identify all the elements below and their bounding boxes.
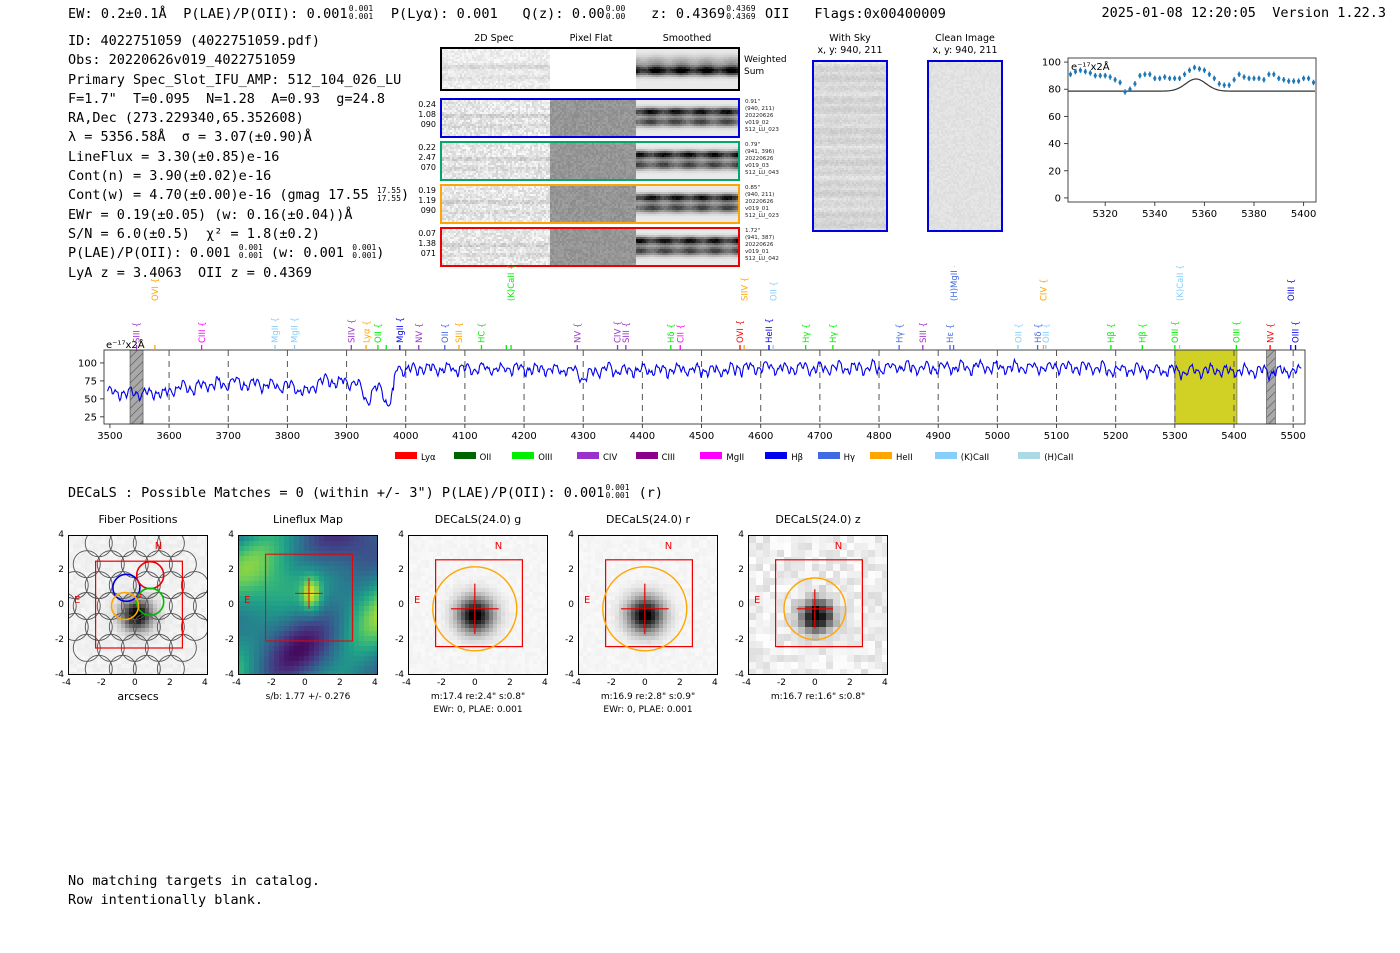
spec2d-weighted-2dspec: [442, 49, 550, 89]
legend-swatch: [512, 452, 534, 459]
header-plae-value: 0.001: [307, 6, 348, 22]
compass-north-label: N: [835, 541, 842, 552]
cutout-image-gray[interactable]: [578, 535, 718, 675]
spec2d-row-meta: 0.79": [745, 142, 791, 149]
legend-item-oiii: OIII: [512, 452, 552, 463]
spec2d-pixelflat: [550, 229, 636, 265]
header-datetime-version: 2025-01-08 12:20:05 Version 1.22.3: [1102, 5, 1387, 21]
legend-label: Hγ: [844, 453, 855, 463]
spec2d-pixelflat: [550, 100, 636, 136]
header-plae-range: 0.0010.001: [349, 5, 374, 21]
spec2d-smoothed: [636, 100, 740, 136]
cutout-ytick: -2: [560, 635, 574, 645]
decals-plae-range: 0.0010.001: [605, 484, 629, 500]
legend-label: CIII: [662, 453, 675, 463]
small-cutout-coords: x, y: 940, 211: [800, 45, 900, 57]
cutout-image-gray[interactable]: [408, 535, 548, 675]
spec2d-pixelflat: [550, 186, 636, 222]
cutout-ytick: -4: [50, 670, 64, 680]
cutout-caption-2: EWr: 0, PLAE: 0.001: [548, 704, 748, 716]
small-cutout-title: Clean Image: [915, 33, 1015, 45]
sky-clean-group: With Skyx, y: 940, 211Clean Imagex, y: 9…: [800, 33, 1020, 233]
cutout-ytick: 2: [220, 565, 234, 575]
spec2d-weighted-smoothed: [636, 49, 740, 89]
spec2d-smoothed: [636, 143, 740, 179]
cutout-ytick: 2: [390, 565, 404, 575]
info-radec: RA,Dec (273.229340,65.352608): [68, 109, 409, 128]
spec2d-exposure-row: [440, 184, 740, 224]
cutout-xtick: 4: [712, 678, 718, 688]
header-z-range: 0.43690.4369: [726, 5, 756, 21]
small-cutout-image: [927, 60, 1003, 232]
spec2d-weighted-sum-row: [440, 47, 740, 91]
compass-north-label: N: [155, 541, 162, 552]
info-lineflux: LineFlux = 3.30(±0.85)e-16: [68, 148, 409, 167]
cutout-ytick: 4: [390, 530, 404, 540]
legend-label: OII: [480, 453, 492, 463]
spec2d-row-meta: 20220626: [745, 199, 791, 206]
spec2d-exposure-row: [440, 141, 740, 181]
cutout-ytick: -2: [50, 635, 64, 645]
compass-east-label: E: [584, 595, 590, 606]
cutout-xtick: 0: [132, 678, 138, 688]
cutout-xtick: 2: [337, 678, 343, 688]
spec2d-row-meta: (940, 211): [745, 106, 791, 113]
weighted-sum-label-1: Weighted: [744, 55, 787, 65]
full-spectrum-plot: 2550751003500360037003800390040004100420…: [60, 266, 1345, 446]
spec2d-panel-group: 2D SpecPixel FlatSmoothedWeightedSum0.24…: [440, 33, 770, 255]
spec2d-row-meta: v019_01: [745, 206, 791, 213]
decals-summary-line: DECaLS : Possible Matches = 0 (within +/…: [68, 484, 663, 501]
spec2d-row-meta: 0.85": [745, 185, 791, 192]
legend-label: Lyα: [421, 453, 436, 463]
cutout-ytick: -2: [730, 635, 744, 645]
spec2d-row-meta: 20220626: [745, 113, 791, 120]
legend-item-oii: OII: [454, 452, 492, 463]
legend-item-hγ: Hγ: [818, 452, 855, 463]
spec2d-2dspec: [442, 100, 550, 136]
info-obs: Obs: 20220626v019_4022751059: [68, 51, 409, 70]
spec2d-row-metric: 090: [402, 120, 436, 130]
cutout-xtick: -2: [97, 678, 106, 688]
cutout-ytick: 4: [560, 530, 574, 540]
info-plae-range: 0.0010.001: [239, 244, 263, 260]
legend-swatch: [765, 452, 787, 459]
compass-north-label: N: [495, 541, 502, 552]
info-plae-w-range: 0.0010.001: [352, 244, 376, 260]
spec2d-row-meta: 20220626: [745, 242, 791, 249]
spec2d-2dspec: [442, 229, 550, 265]
legend-item-hcaii: (H)CaII: [1018, 452, 1073, 463]
cutout-ytick: -4: [390, 670, 404, 680]
legend-item-ciii: CIII: [636, 452, 675, 463]
info-ewr: EWr = 0.19(±0.05) (w: 0.16(±0.04))Å: [68, 206, 409, 225]
spec2d-row-metric: 070: [402, 163, 436, 173]
legend-swatch: [935, 452, 957, 459]
cutout-panel-title: DECaLS(24.0) g: [403, 513, 553, 526]
cutout-xtick: 4: [542, 678, 548, 688]
header-z-species: OII: [765, 6, 790, 22]
decals-summary-band: (r): [639, 485, 663, 501]
cutout-xtick: 4: [202, 678, 208, 688]
spec2d-row-metric: 0.19: [402, 186, 436, 196]
spec2d-2dspec: [442, 186, 550, 222]
cutout-image-fibers[interactable]: [68, 535, 208, 675]
cutout-panel-title: Fiber Positions: [63, 513, 213, 526]
cutout-xtick: 0: [812, 678, 818, 688]
header-summary-line: EW: 0.2±0.1Å P(LAE)/P(OII): 0.0010.0010.…: [68, 5, 946, 22]
legend-label: CIV: [603, 453, 617, 463]
info-plae: P(LAE)/P(OII): 0.001 0.0010.001 (w: 0.00…: [68, 244, 409, 263]
compass-east-label: E: [754, 595, 760, 606]
spec2d-row-metric: 0.24: [402, 100, 436, 110]
legend-swatch: [454, 452, 476, 459]
legend-swatch: [577, 452, 599, 459]
header-qz-value: 0.00: [572, 6, 605, 22]
legend-item-mgii: MgII: [700, 452, 744, 463]
bottom-note-line1: No matching targets in catalog.: [68, 872, 320, 891]
legend-item-hβ: Hβ: [765, 452, 803, 463]
spec2d-row-meta: (941, 387): [745, 235, 791, 242]
legend-swatch: [395, 452, 417, 459]
header-z-value: 0.4369: [676, 6, 725, 22]
cutout-xtick: 2: [677, 678, 683, 688]
weighted-sum-label-2: Sum: [744, 67, 764, 77]
bottom-note-line2: Row intentionally blank.: [68, 891, 320, 910]
compass-east-label: E: [414, 595, 420, 606]
spec2d-row-meta: v019_03: [745, 163, 791, 170]
compass-east-label: E: [74, 595, 80, 606]
legend-swatch: [636, 452, 658, 459]
spec2d-row-meta: v019_02: [745, 120, 791, 127]
cutout-ytick: -4: [560, 670, 574, 680]
spec2d-row-metric: 2.47: [402, 153, 436, 163]
cutout-xtick: -2: [777, 678, 786, 688]
cutout-ytick: 0: [220, 600, 234, 610]
info-id: ID: 4022751059 (4022751059.pdf): [68, 32, 409, 51]
spec2d-row-meta: 512_LU_023: [745, 213, 791, 220]
cutout-xtick: -2: [607, 678, 616, 688]
small-cutout-image: [812, 60, 888, 232]
cutout-xtick: 4: [882, 678, 888, 688]
legend-swatch: [700, 452, 722, 459]
cutout-xtick: 2: [847, 678, 853, 688]
bottom-note: No matching targets in catalog. Row inte…: [68, 872, 320, 911]
cutout-row: Fiber Positions-4-2024420-2-4arcsecsNELi…: [0, 505, 1000, 745]
spec2d-row-meta: (941, 396): [745, 149, 791, 156]
legend-swatch: [870, 452, 892, 459]
legend-label: OIII: [538, 453, 552, 463]
cutout-ytick: 0: [730, 600, 744, 610]
spec2d-row-metric: 071: [402, 249, 436, 259]
info-primary-spec: Primary Spec_Slot_IFU_AMP: 512_104_026_L…: [68, 71, 409, 90]
spec2d-row-meta: (940, 211): [745, 192, 791, 199]
spec2d-row-metric: 090: [402, 206, 436, 216]
header-flags: Flags:0x00400009: [814, 6, 946, 22]
legend-item-civ: CIV: [577, 452, 617, 463]
spec2d-weighted-pixelflat: [550, 49, 636, 89]
info-cont-w: Cont(w) = 4.70(±0.00)e-16 (gmag 17.55 17…: [68, 186, 409, 205]
cutout-xtick: 0: [302, 678, 308, 688]
cutout-ytick: -2: [390, 635, 404, 645]
cutout-ytick: -4: [220, 670, 234, 680]
spec2d-row-meta: 0.91": [745, 99, 791, 106]
cutout-ytick: 4: [730, 530, 744, 540]
compass-east-label: E: [244, 595, 250, 606]
legend-label: (K)CaII: [961, 453, 989, 463]
header-version: Version 1.22.3: [1272, 5, 1386, 21]
cutout-xtick: 2: [167, 678, 173, 688]
legend-item-heii: HeII: [870, 452, 913, 463]
cutout-ytick: 0: [50, 600, 64, 610]
spec2d-smoothed: [636, 229, 740, 265]
info-gmag-range: 17.5517.55: [377, 187, 401, 203]
legend-label: Hβ: [791, 453, 803, 463]
legend-swatch: [1018, 452, 1040, 459]
spec2d-smoothed: [636, 186, 740, 222]
spec2d-row-meta: 512_LU_042: [745, 256, 791, 263]
cutout-xtick: 0: [642, 678, 648, 688]
header-qz-label: Q(z):: [522, 6, 563, 22]
zoom-spectrum-plot: 02040608010053205340536053805400e⁻¹⁷x2Å: [1032, 50, 1322, 230]
info-sn-chi2: S/N = 6.0(±0.5) χ² = 1.8(±0.2): [68, 225, 409, 244]
spec2d-exposure-row: [440, 227, 740, 267]
header-plae-label: P(LAE)/P(OII):: [183, 6, 298, 22]
legend-item-lyα: Lyα: [395, 452, 436, 463]
cutout-panel-title: DECaLS(24.0) r: [573, 513, 723, 526]
compass-north-label: N: [665, 541, 672, 552]
cutout-ytick: 4: [220, 530, 234, 540]
small-cutout-title: With Sky: [800, 33, 900, 45]
header-datetime: 2025-01-08 12:20:05: [1102, 5, 1256, 21]
emission-line-legend: LyαOIIOIIICIVCIIIMgIIHβHγHeII(K)CaII(H)C…: [395, 452, 1015, 466]
spec2d-row-meta: v019_01: [745, 249, 791, 256]
legend-label: HeII: [896, 453, 913, 463]
info-seeing: F=1.7" T=0.095 N=1.28 A=0.93 g=24.8: [68, 90, 409, 109]
cutout-image-heat[interactable]: [238, 535, 378, 675]
small-cutout-coords: x, y: 940, 211: [915, 45, 1015, 57]
cutout-caption-1: m:16.7 re:1.6" s:0.8": [718, 691, 918, 703]
info-lambda: λ = 5356.58Å σ = 3.07(±0.90)Å: [68, 128, 409, 147]
info-cont-n: Cont(n) = 3.90(±0.02)e-16: [68, 167, 409, 186]
header-z-label: z:: [651, 6, 667, 22]
header-plya-label: P(Lyα):: [391, 6, 449, 22]
header-plya-value: 0.001: [457, 6, 498, 22]
spec2d-row-metric: 1.08: [402, 110, 436, 120]
cutout-ytick: 2: [560, 565, 574, 575]
cutout-ytick: 0: [390, 600, 404, 610]
source-info-block: ID: 4022751059 (4022751059.pdf) Obs: 202…: [68, 32, 409, 283]
cutout-panel-title: DECaLS(24.0) z: [743, 513, 893, 526]
cutout-xtick: -2: [437, 678, 446, 688]
legend-label: MgII: [726, 453, 744, 463]
spec2d-row-metric: 1.19: [402, 196, 436, 206]
cutout-panel-title: Lineflux Map: [233, 513, 383, 526]
header-qz-range: 0.000.00: [606, 5, 626, 21]
legend-label: (H)CaII: [1044, 453, 1073, 463]
legend-item-kcaii: (K)CaII: [935, 452, 989, 463]
header-ew: EW: 0.2±0.1Å: [68, 6, 167, 22]
spec2d-column-title-2: Smoothed: [614, 33, 760, 44]
spec2d-pixelflat: [550, 143, 636, 179]
spec2d-row-meta: 512_LU_023: [745, 127, 791, 134]
cutout-ytick: 4: [50, 530, 64, 540]
cutout-ytick: -4: [730, 670, 744, 680]
cutout-ytick: 2: [50, 565, 64, 575]
spec2d-2dspec: [442, 143, 550, 179]
spec2d-row-meta: 512_LU_043: [745, 170, 791, 177]
spec2d-row-metric: 1.38: [402, 239, 436, 249]
decals-summary-text: DECaLS : Possible Matches = 0 (within +/…: [68, 485, 604, 501]
cutout-xtick: 4: [372, 678, 378, 688]
legend-swatch: [818, 452, 840, 459]
cutout-ytick: -2: [220, 635, 234, 645]
cutout-xtick: 0: [472, 678, 478, 688]
spec2d-row-metric: 0.22: [402, 143, 436, 153]
spec2d-row-meta: 1.72": [745, 228, 791, 235]
spec2d-exposure-row: [440, 98, 740, 138]
spec2d-row-metric: 0.07: [402, 229, 436, 239]
spec2d-row-meta: 20220626: [745, 156, 791, 163]
cutout-xtick: -2: [267, 678, 276, 688]
cutout-image-pixel[interactable]: [748, 535, 888, 675]
cutout-xtick: 2: [507, 678, 513, 688]
cutout-ytick: 0: [560, 600, 574, 610]
cutout-ytick: 2: [730, 565, 744, 575]
